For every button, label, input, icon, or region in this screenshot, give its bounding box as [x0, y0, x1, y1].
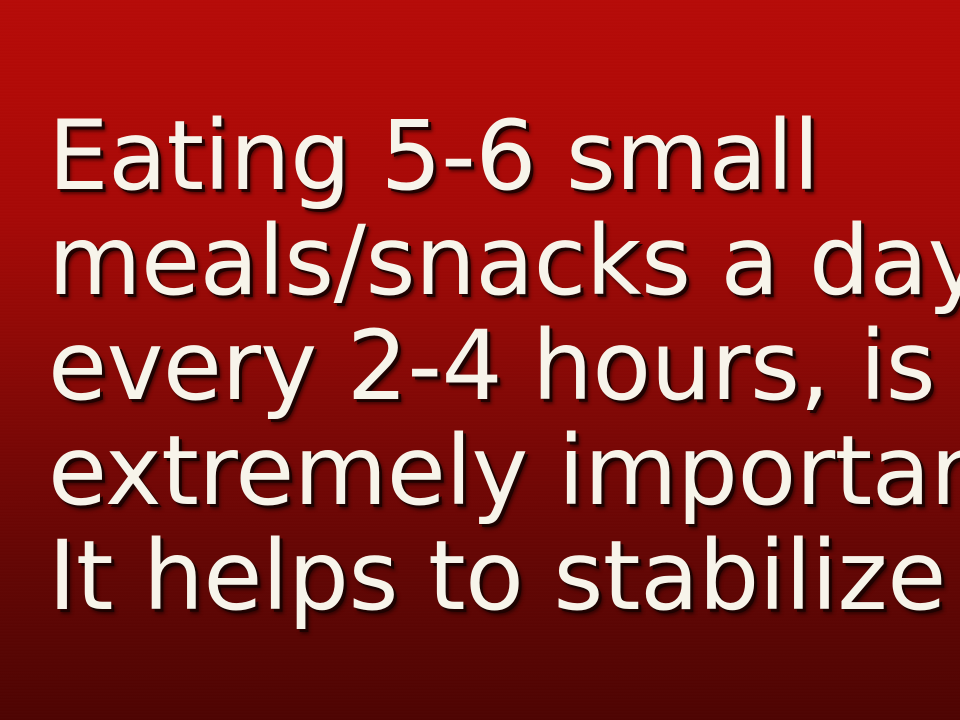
- caption-line-3: every 2-4 hours, is: [48, 314, 948, 419]
- caption-line-4: extremely important.: [48, 419, 948, 524]
- caption-text-block: Eating 5-6 small meals/snacks a day, eve…: [48, 104, 948, 629]
- caption-slide: Eating 5-6 small meals/snacks a day, eve…: [0, 0, 960, 720]
- caption-line-5: It helps to stabilize: [48, 524, 948, 629]
- caption-line-2: meals/snacks a day,: [48, 209, 948, 314]
- caption-line-1: Eating 5-6 small: [48, 104, 948, 209]
